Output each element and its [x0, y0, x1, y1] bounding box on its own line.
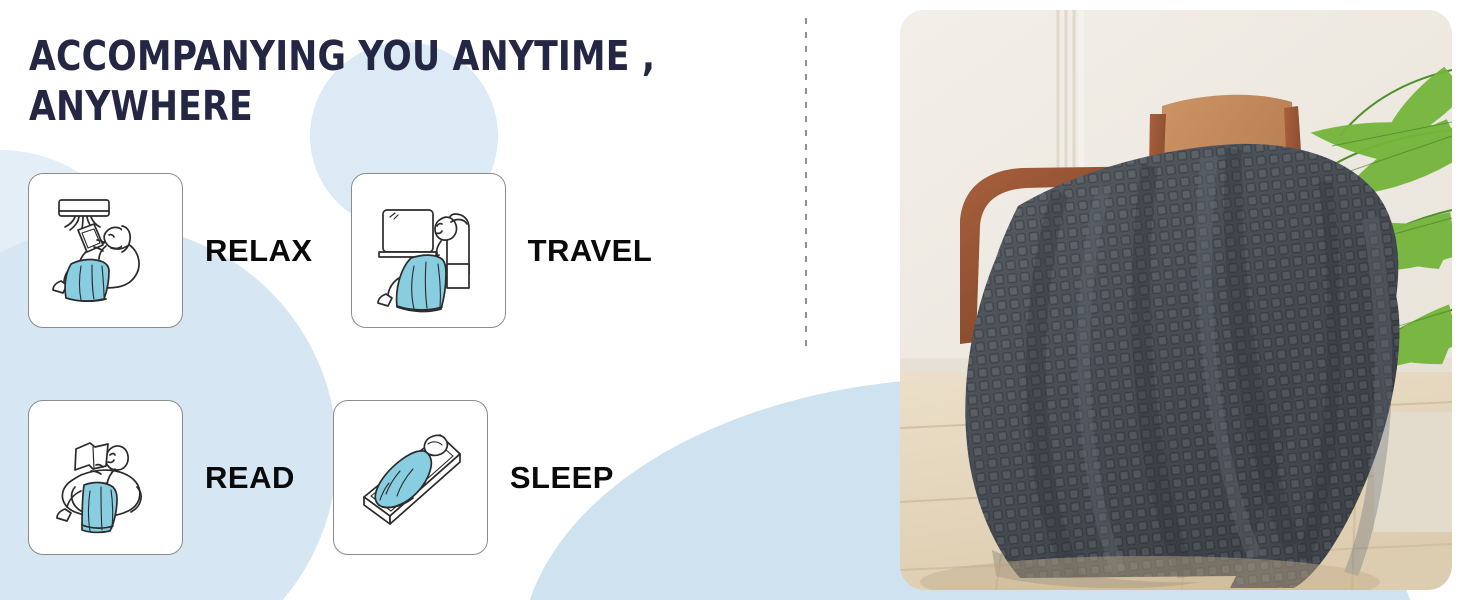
feature-item-sleep[interactable]: SLEEP	[333, 400, 614, 555]
feature-label: READ	[205, 460, 295, 496]
promo-banner: ACCOMPANYING YOU ANYTIME , ANYWHERE	[0, 0, 1464, 600]
feature-row: READ	[28, 400, 748, 555]
page-title: ACCOMPANYING YOU ANYTIME , ANYWHERE	[29, 31, 706, 131]
feature-label: RELAX	[205, 233, 313, 269]
feature-label: TRAVEL	[528, 233, 653, 269]
travel-tile	[351, 173, 506, 328]
person-on-beanbag-under-air-conditioner-icon	[41, 186, 171, 316]
feature-label: SLEEP	[510, 460, 614, 496]
product-photo-illustration	[900, 10, 1452, 590]
feature-item-read[interactable]: READ	[28, 400, 295, 555]
vertical-dashed-divider	[805, 18, 807, 349]
product-photo	[900, 10, 1452, 590]
read-tile	[28, 400, 183, 555]
person-reading-book-on-beanbag-icon	[41, 413, 171, 543]
relax-tile	[28, 173, 183, 328]
feature-item-travel[interactable]: TRAVEL	[351, 173, 653, 328]
feature-item-relax[interactable]: RELAX	[28, 173, 313, 328]
bed-with-blanket-and-pillow-icon	[345, 413, 475, 543]
feature-row: RELAX	[28, 173, 748, 328]
person-reclining-airplane-seat-icon	[363, 186, 493, 316]
sleep-tile	[333, 400, 488, 555]
feature-grid: RELAX	[28, 173, 748, 555]
